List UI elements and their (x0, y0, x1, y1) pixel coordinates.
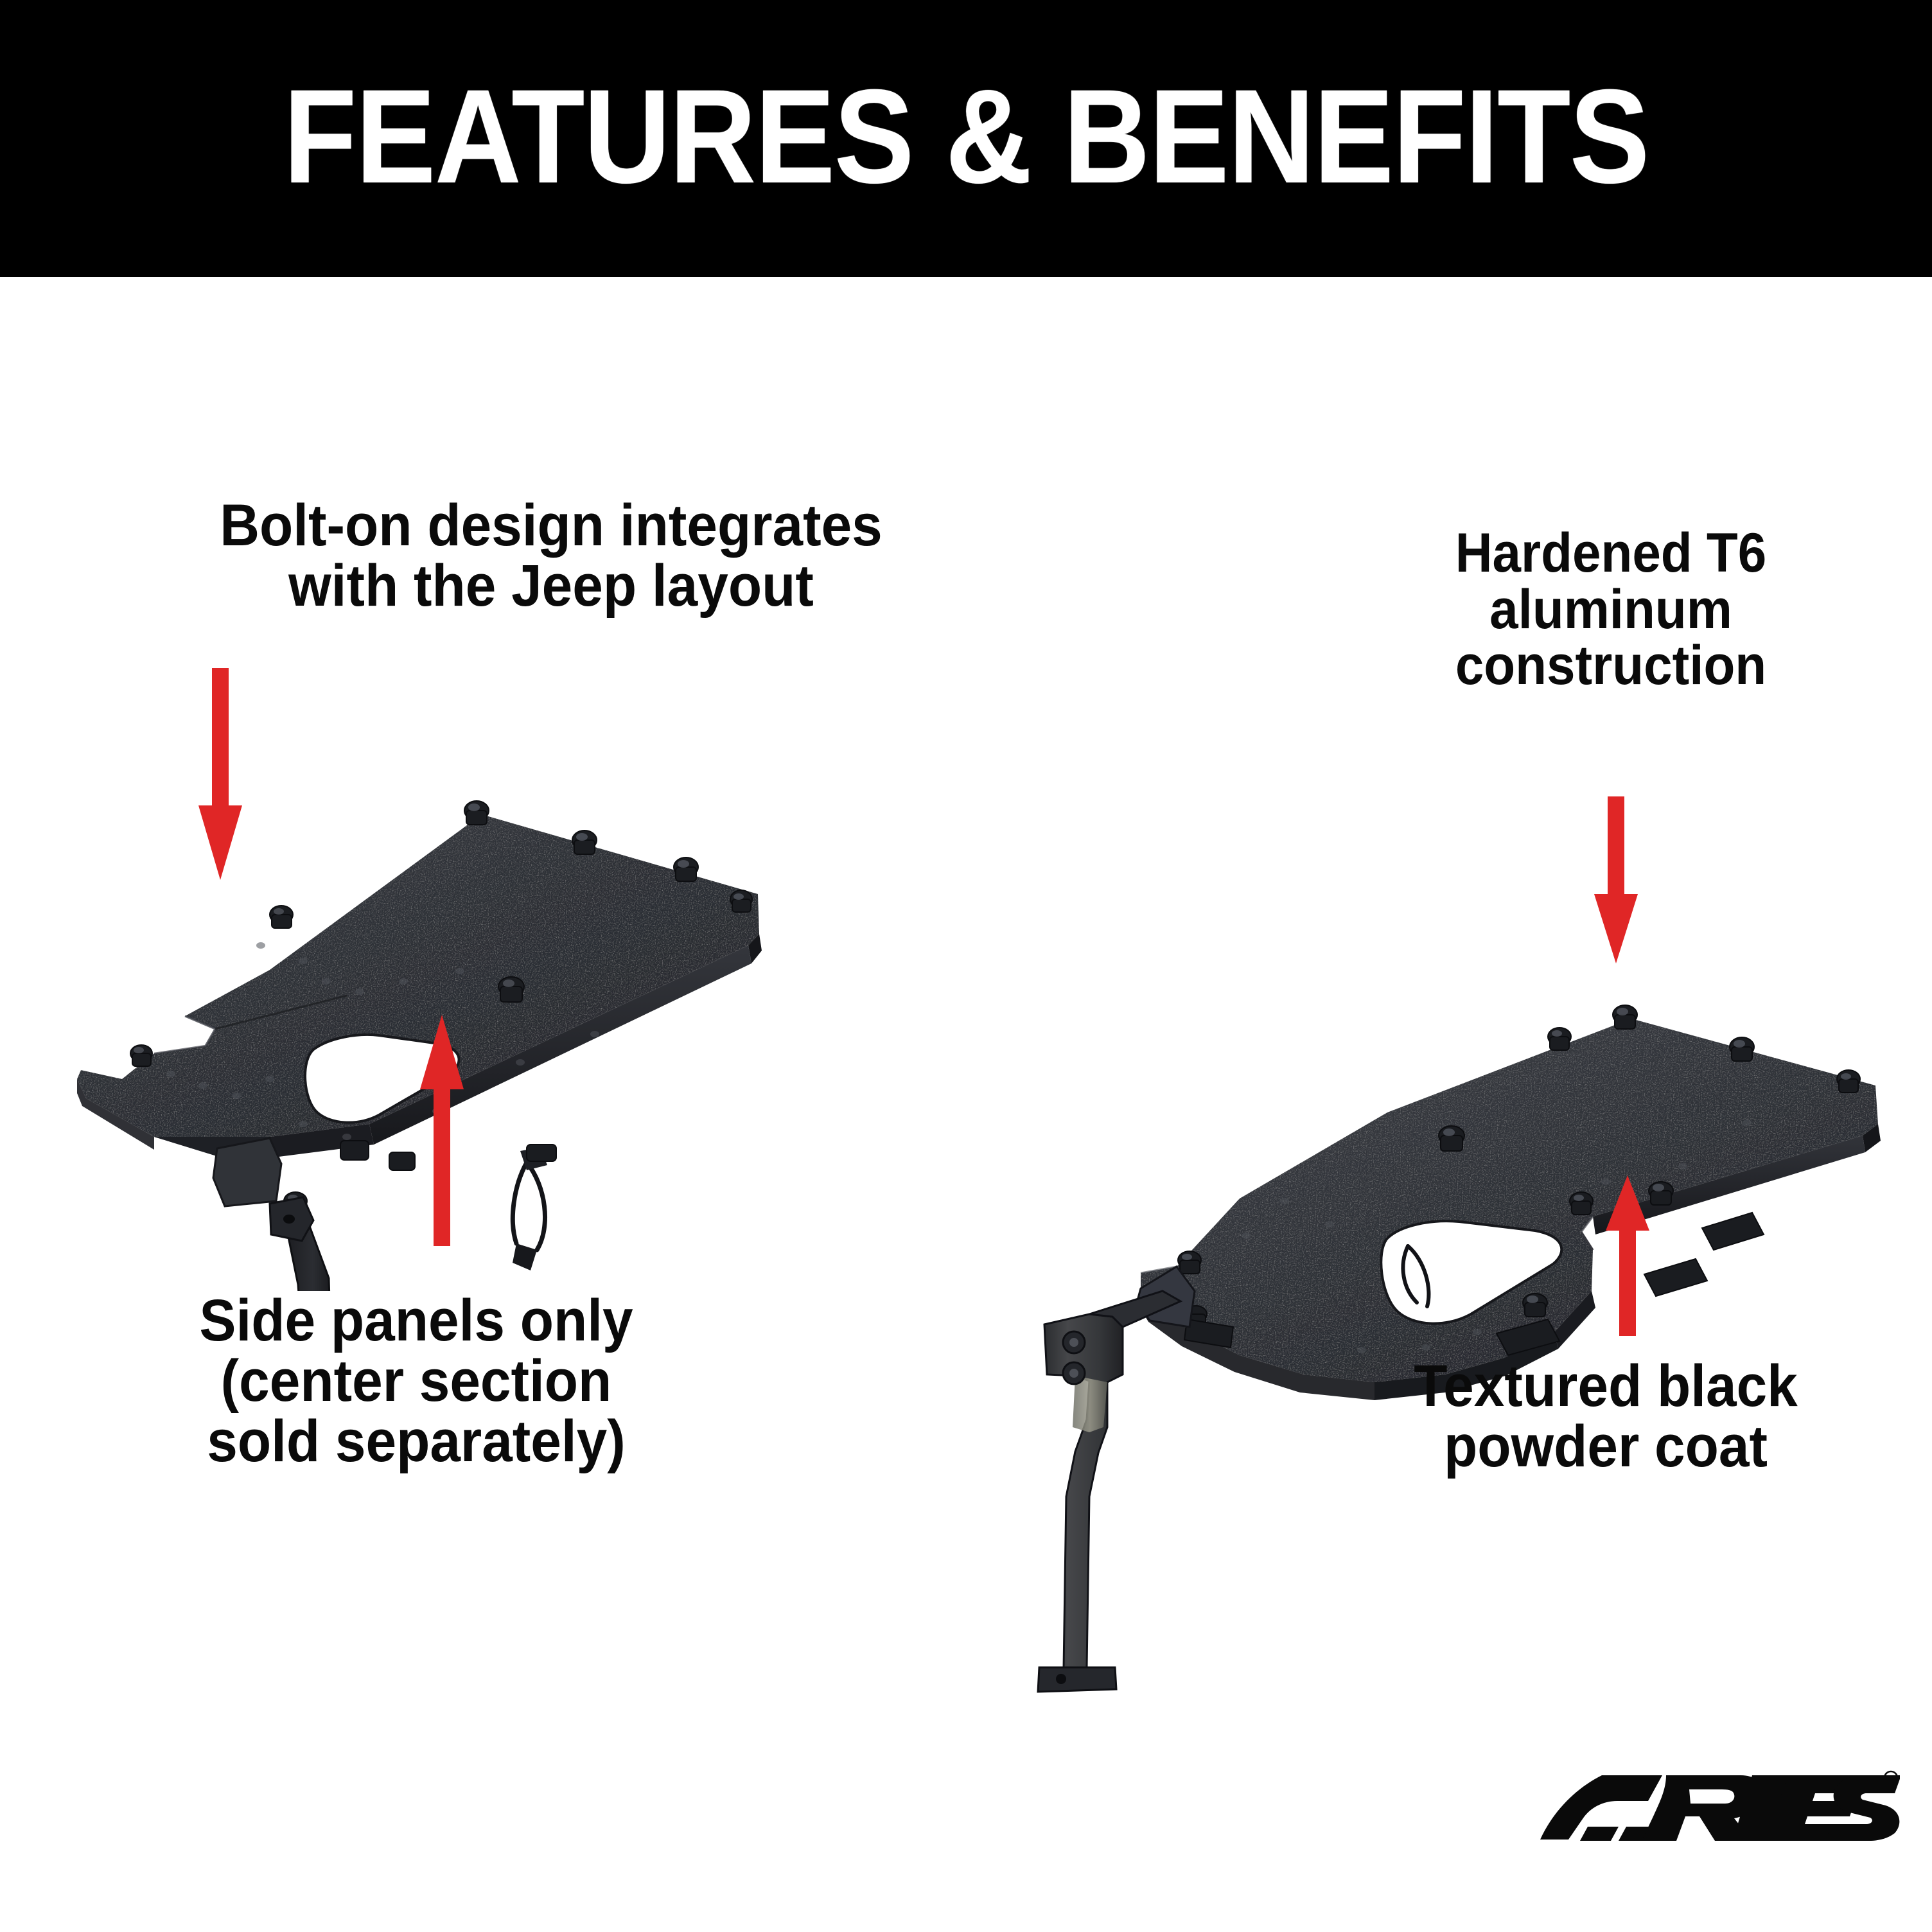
callout-side-panels-only: Side panels only (center section sold se… (100, 1291, 733, 1471)
page-title: FEATURES & BENEFITS (283, 70, 1649, 204)
product-image-skid-plate-right (1028, 931, 1901, 1702)
up-arrow-powder-coat (1603, 1175, 1652, 1336)
up-arrow-side-panels (417, 1015, 466, 1246)
callout-textured-black-powder-coat: Textured black powder coat (1337, 1357, 1875, 1477)
header-band: FEATURES & BENEFITS (0, 0, 1932, 277)
down-arrow-hardened (1592, 796, 1640, 963)
down-arrow-bolt-on (196, 668, 245, 880)
callout-hardened-t6-aluminum: Hardened T6 aluminum construction (1378, 525, 1843, 694)
infographic-canvas: FEATURES & BENEFITS (0, 0, 1932, 1932)
callout-bolt-on-design: Bolt-on design integrates with the Jeep … (109, 496, 993, 617)
aries-logo: R (1540, 1768, 1900, 1845)
svg-text:R: R (1888, 1773, 1894, 1783)
